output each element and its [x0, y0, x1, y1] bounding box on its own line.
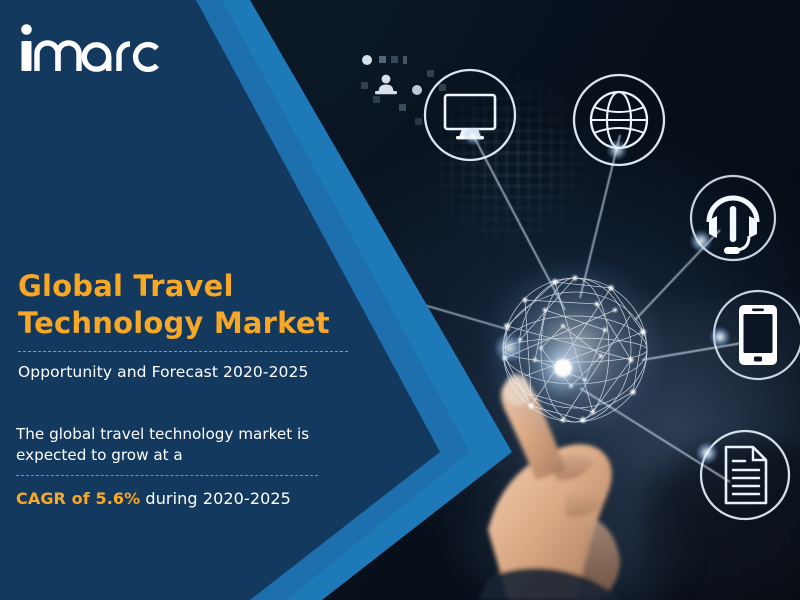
- report-cover: Global Travel Technology Market Opportun…: [0, 0, 800, 600]
- blue-chevron-arrow: [0, 0, 800, 600]
